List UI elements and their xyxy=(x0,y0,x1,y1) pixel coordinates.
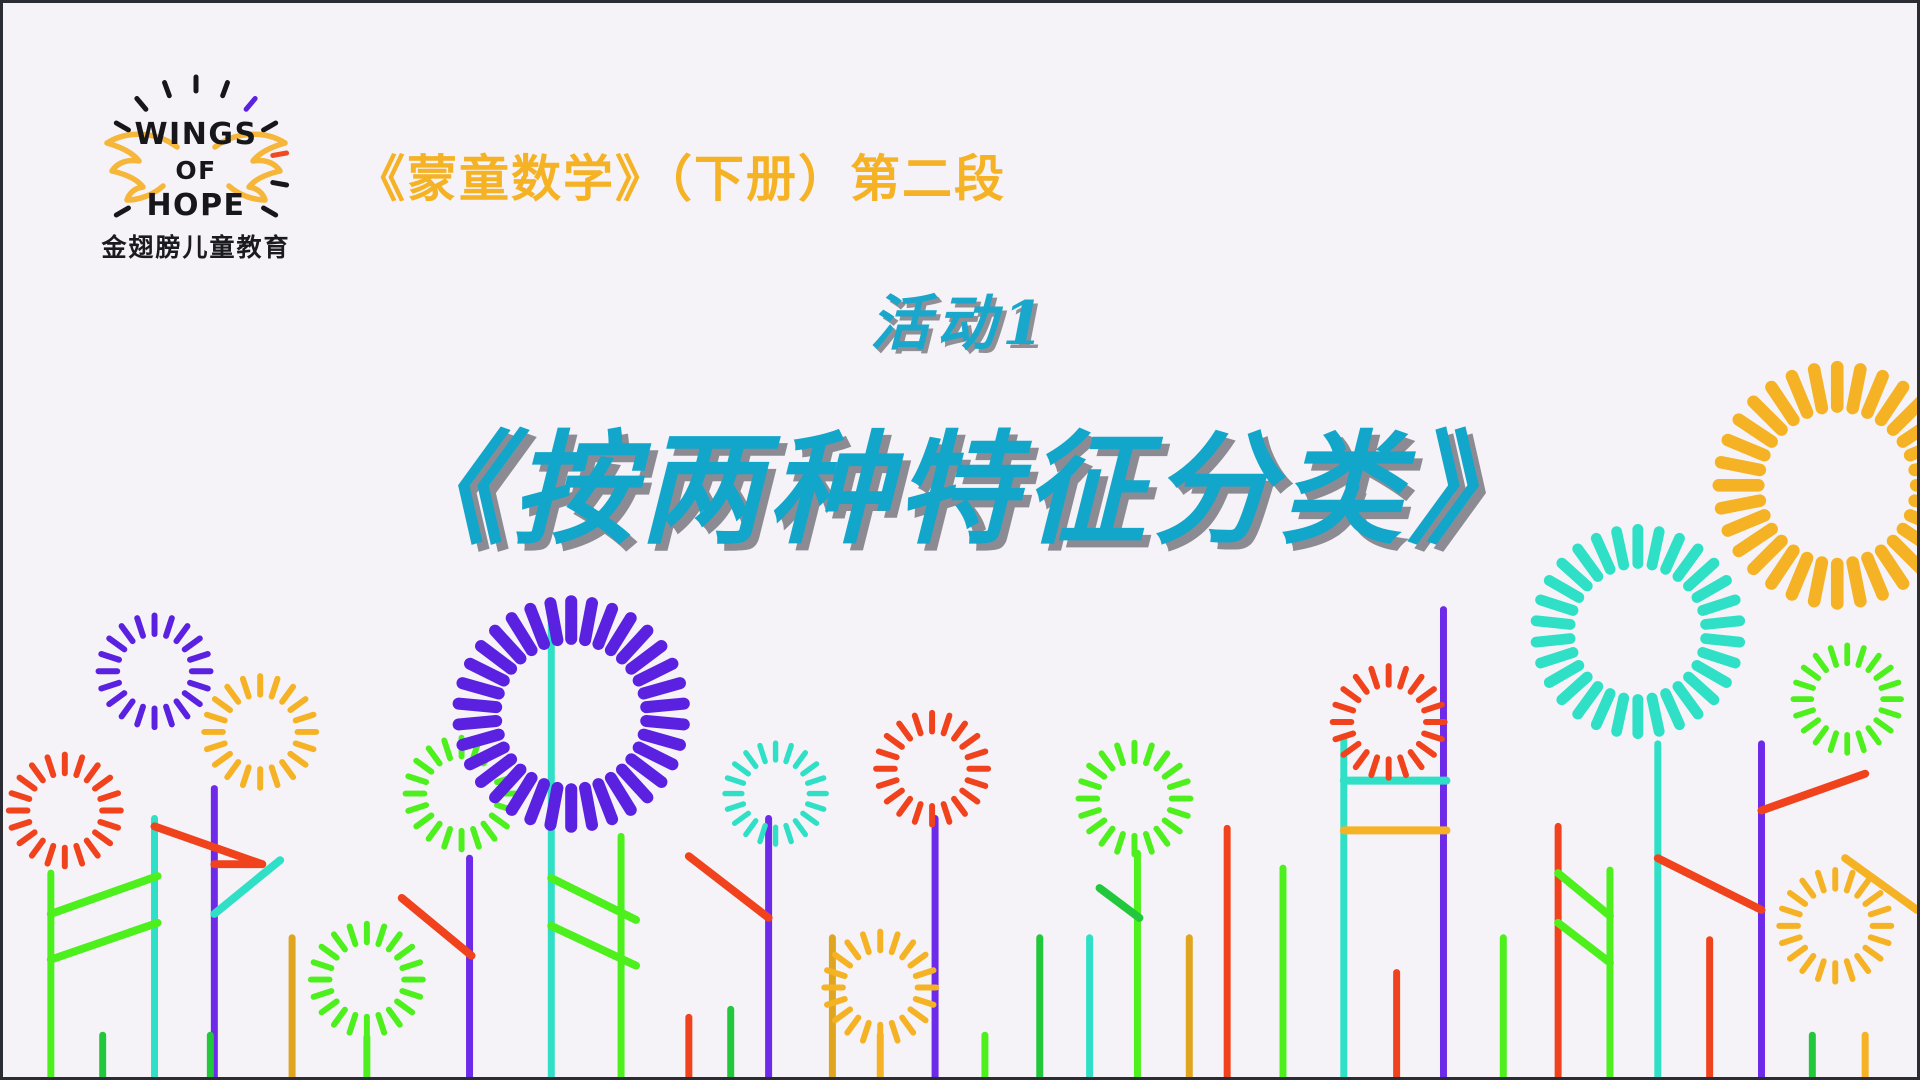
flower-petal xyxy=(389,934,400,949)
flower-petal xyxy=(944,804,950,822)
flower-petal xyxy=(611,618,631,650)
flower-petal xyxy=(1831,648,1837,665)
flower-petal xyxy=(1089,820,1104,831)
wings-of-hope-logo-icon: WINGS OF HOPE xyxy=(81,51,311,226)
flower-petal xyxy=(408,805,426,811)
flower-petal xyxy=(760,746,765,762)
brand-logo[interactable]: WINGS OF HOPE 金翅膀儿童教育 xyxy=(81,51,311,264)
flower-petal xyxy=(32,765,43,780)
flower-petal xyxy=(1804,668,1819,679)
flower-leaf xyxy=(1658,858,1762,910)
flower-petal xyxy=(1156,829,1167,844)
flower-petal xyxy=(1549,665,1579,682)
flower-petal xyxy=(12,822,30,828)
flower-petal xyxy=(20,832,35,843)
flower-petal xyxy=(1156,753,1167,768)
flower-petal xyxy=(1165,766,1180,777)
flower-petal xyxy=(1818,873,1824,891)
flower-petal xyxy=(899,799,910,814)
flower-petal xyxy=(166,618,172,636)
logo-spark xyxy=(273,153,287,155)
flower-petal xyxy=(827,970,845,976)
flower-petal xyxy=(835,1009,850,1020)
flower-petal xyxy=(550,603,557,640)
flower-petal xyxy=(95,832,110,843)
flower-petal xyxy=(1703,653,1735,664)
flower-petal xyxy=(512,618,532,650)
flower-petal xyxy=(497,805,515,811)
flower-petal xyxy=(915,804,921,822)
flower-petal xyxy=(470,748,504,765)
flower-petal xyxy=(462,683,498,693)
flower-petal xyxy=(1411,752,1422,767)
flower-petal xyxy=(1146,745,1152,763)
flower-petal xyxy=(350,1015,356,1033)
flower-petal xyxy=(492,815,507,826)
flower-petal xyxy=(512,778,532,810)
flower-petal xyxy=(207,743,225,749)
dandelion-flower xyxy=(406,738,518,850)
flower-petal xyxy=(915,716,921,734)
flower-petal xyxy=(795,753,805,767)
flower-petal xyxy=(1419,689,1434,700)
flower-leaf xyxy=(1558,923,1610,963)
flower-petal xyxy=(916,970,934,976)
flower-petal xyxy=(808,804,824,809)
flower-petal xyxy=(1536,639,1570,643)
flower-petal xyxy=(1865,893,1880,904)
flower-petal xyxy=(1335,733,1353,739)
flower-petal xyxy=(847,942,858,957)
logo-spark xyxy=(116,208,128,215)
flower-petal xyxy=(1343,689,1358,700)
flower-petal xyxy=(1424,705,1442,711)
flower-petal xyxy=(473,829,479,847)
flower-petal xyxy=(109,638,124,649)
dandelion-flower xyxy=(876,713,988,825)
flower-petal xyxy=(803,813,817,823)
logo-spark xyxy=(246,99,255,110)
flower-petal xyxy=(1335,705,1353,711)
flower-petal xyxy=(227,687,238,702)
flower-petal xyxy=(1549,580,1579,597)
activity-label: 活动1 xyxy=(3,275,1917,362)
flower-petal xyxy=(87,841,98,856)
flower-petal xyxy=(1865,948,1880,959)
flower-petal xyxy=(954,799,965,814)
flower-petal xyxy=(95,778,110,789)
flower-petal xyxy=(1666,694,1680,725)
flower-petal xyxy=(1876,720,1891,731)
flower-petal xyxy=(1400,669,1406,687)
flower-petal xyxy=(550,788,557,825)
dandelion-flower xyxy=(1793,645,1901,752)
flower-petal xyxy=(314,962,332,968)
flower-petal xyxy=(879,780,897,786)
flower-petal xyxy=(1165,820,1180,831)
flower-leaf xyxy=(1845,858,1917,910)
flower-petal xyxy=(76,846,82,864)
flower-petal xyxy=(1857,956,1868,971)
flower-petal xyxy=(459,721,497,724)
flower-petal xyxy=(1146,834,1152,852)
flower-petal xyxy=(585,603,592,640)
flower-petal xyxy=(631,759,661,782)
flower-petal xyxy=(1541,653,1573,664)
flower-petal xyxy=(622,770,647,798)
flower-leaf xyxy=(214,860,280,914)
flower-petal xyxy=(962,791,977,802)
logo-spark xyxy=(137,99,146,110)
flower-petal xyxy=(444,740,450,758)
flower-petal xyxy=(100,793,118,799)
flower-petal xyxy=(243,679,249,697)
flower-leaf xyxy=(1558,873,1610,916)
flower-petal xyxy=(20,778,35,789)
dandelion-flower xyxy=(824,932,936,1044)
flower-petal xyxy=(12,793,30,799)
flower-petal xyxy=(1706,621,1740,625)
logo-spark xyxy=(165,83,170,96)
flower-petal xyxy=(484,824,495,839)
flower-petal xyxy=(1652,698,1659,731)
flower-petal xyxy=(48,757,54,775)
flower-petal xyxy=(887,736,902,747)
flower-petal xyxy=(735,813,749,823)
page-title: 《按两种特征分类》 xyxy=(3,391,1917,568)
flower-petal xyxy=(282,687,293,702)
flower-petal xyxy=(1876,668,1891,679)
flower-petal xyxy=(190,683,208,689)
flower-petal xyxy=(314,991,332,997)
flower-petal xyxy=(910,1009,925,1020)
flower-petal xyxy=(290,699,305,710)
flower-petal xyxy=(847,1018,858,1033)
flower-petal xyxy=(646,704,684,707)
flower-petal xyxy=(1562,677,1587,700)
flower-petal xyxy=(968,751,986,757)
dandelion-flower xyxy=(311,924,423,1036)
dandelion-flower xyxy=(204,676,316,788)
flower-petal xyxy=(892,934,898,952)
logo-spark xyxy=(264,208,276,215)
flower-petal xyxy=(1170,781,1188,787)
logo-word-hope: HOPE xyxy=(146,188,245,223)
flower-petal xyxy=(296,715,314,721)
flower-petal xyxy=(429,824,440,839)
dandelion-flower xyxy=(1779,870,1891,982)
flower-petal xyxy=(954,724,965,739)
flower-petal xyxy=(100,822,118,828)
flower-petal xyxy=(416,815,431,826)
flower-petal xyxy=(1796,683,1813,689)
flower-leaf xyxy=(551,926,636,966)
flower-petal xyxy=(215,699,230,710)
flower-petal xyxy=(530,609,544,644)
flower-petal xyxy=(1117,745,1123,763)
flower-petal xyxy=(1697,665,1727,682)
flower-petal xyxy=(176,626,187,641)
flower-petal xyxy=(1371,669,1377,687)
flower-petal xyxy=(746,821,756,835)
flower-petal xyxy=(863,934,869,952)
flower-petal xyxy=(462,735,498,745)
flower-petal xyxy=(176,701,187,716)
flower-leaf xyxy=(551,878,636,920)
flower-petal xyxy=(282,762,293,777)
flower-petal xyxy=(1814,563,1822,602)
flower-petal xyxy=(644,683,680,693)
flower-petal xyxy=(378,926,384,944)
flower-petal xyxy=(1782,909,1800,915)
flower-petal xyxy=(879,751,897,757)
flower-petal xyxy=(899,724,910,739)
flower-petal xyxy=(1400,757,1406,775)
flower-petal xyxy=(1853,563,1861,602)
flower-petal xyxy=(746,753,756,767)
flower-leaf xyxy=(1100,888,1140,918)
flower-petal xyxy=(1089,766,1104,777)
flower-petal xyxy=(1816,728,1827,742)
flower-petal xyxy=(1411,677,1422,692)
flower-petal xyxy=(1578,687,1598,715)
flower-petal xyxy=(1881,710,1898,716)
flower-petal xyxy=(243,767,249,785)
flower-petal xyxy=(1790,893,1805,904)
flower-petal xyxy=(1782,937,1800,943)
flower-petal xyxy=(481,759,511,782)
flower-petal xyxy=(631,646,661,669)
flower-petal xyxy=(444,829,450,847)
dandelion-flower xyxy=(9,755,121,867)
flower-petal xyxy=(322,1001,337,1012)
flower-petal xyxy=(1816,656,1827,670)
flower-leaf xyxy=(402,898,472,956)
flower-petal xyxy=(101,683,119,689)
flower-petal xyxy=(122,701,133,716)
flower-petal xyxy=(334,934,345,949)
flower-petal xyxy=(1858,733,1864,750)
flower-petal xyxy=(185,693,200,704)
flower-petal xyxy=(408,776,426,782)
flower-petal xyxy=(416,761,431,772)
flower-petal xyxy=(1596,694,1610,725)
flower-petal xyxy=(272,767,278,785)
flower-petal xyxy=(1847,961,1853,979)
flower-petal xyxy=(484,748,495,763)
flower-petal xyxy=(87,765,98,780)
flower-petal xyxy=(1697,580,1727,597)
flower-leaf xyxy=(155,826,263,864)
flower-petal xyxy=(290,754,305,765)
flower-petal xyxy=(397,947,412,958)
flower-petal xyxy=(727,804,743,809)
dandelion-flower xyxy=(725,743,826,844)
flower-petal xyxy=(863,1023,869,1041)
flower-leaf xyxy=(51,876,158,914)
flower-petal xyxy=(137,618,143,636)
flower-petal xyxy=(735,764,749,774)
flower-petal xyxy=(429,748,440,763)
flower-petal xyxy=(1081,810,1099,816)
flower-petal xyxy=(1868,728,1879,742)
flower-petal xyxy=(495,770,520,798)
flower-petal xyxy=(639,748,673,765)
flower-petal xyxy=(350,926,356,944)
flower-petal xyxy=(207,715,225,721)
flower-petal xyxy=(611,778,631,810)
flower-petal xyxy=(916,999,934,1005)
logo-spark xyxy=(264,123,276,130)
flower-petal xyxy=(296,743,314,749)
flower-petal xyxy=(1356,677,1367,692)
flower-petal xyxy=(760,826,765,842)
flower-petal xyxy=(892,1023,898,1041)
flower-petal xyxy=(1802,956,1813,971)
flower-petal xyxy=(808,778,824,783)
dandelion-flower xyxy=(1078,743,1190,855)
flower-petal xyxy=(910,955,925,966)
flower-petal xyxy=(598,784,612,819)
flower-petal xyxy=(786,826,791,842)
flower-petal xyxy=(598,609,612,644)
flower-petal xyxy=(1678,687,1698,715)
flower-petal xyxy=(378,1015,384,1033)
flower-petal xyxy=(215,754,230,765)
flower-petal xyxy=(1857,881,1868,896)
flower-petal xyxy=(962,736,977,747)
brand-caption: 金翅膀儿童教育 xyxy=(81,228,311,264)
flower-petal xyxy=(727,778,743,783)
flower-petal xyxy=(1703,600,1735,611)
flower-petal xyxy=(786,746,791,762)
flower-petal xyxy=(1790,948,1805,959)
flower-petal xyxy=(227,762,238,777)
flower-petal xyxy=(137,707,143,725)
flower-petal xyxy=(459,704,497,707)
flower-petal xyxy=(1424,733,1442,739)
flower-petal xyxy=(272,679,278,697)
dandelion-flower xyxy=(459,601,684,827)
flower-petal xyxy=(1796,710,1813,716)
flower-petal xyxy=(1102,753,1113,768)
flower-petal xyxy=(1858,648,1864,665)
flower-petal xyxy=(1536,621,1570,625)
flower-petal xyxy=(585,788,592,825)
flower-petal xyxy=(1170,810,1188,816)
flower-petal xyxy=(1419,744,1434,755)
flower-petal xyxy=(1117,834,1123,852)
flower-petal xyxy=(1689,677,1714,700)
flower-petal xyxy=(1871,909,1889,915)
flower-leaf xyxy=(51,923,158,960)
flower-petal xyxy=(622,631,647,659)
flower-petal xyxy=(1102,829,1113,844)
flower-petal xyxy=(1356,752,1367,767)
flower-petal xyxy=(1831,733,1837,750)
flower-petal xyxy=(122,626,133,641)
flower-petal xyxy=(1706,639,1740,643)
flower-petal xyxy=(646,721,684,724)
logo-spark xyxy=(223,83,228,96)
flower-petal xyxy=(166,707,172,725)
dandelion-flower xyxy=(1333,666,1445,778)
flower-petal xyxy=(902,1018,913,1033)
flower-petal xyxy=(101,654,119,660)
flower-petal xyxy=(639,664,673,681)
flower-petal xyxy=(902,942,913,957)
flower-petal xyxy=(1868,656,1879,670)
flower-petal xyxy=(397,1001,412,1012)
flower-petal xyxy=(1343,744,1358,755)
flower-petal xyxy=(1804,720,1819,731)
flower-petal xyxy=(1371,757,1377,775)
flower-petal xyxy=(470,664,504,681)
flower-petal xyxy=(1881,683,1898,689)
flower-petal xyxy=(530,784,544,819)
flower-petal xyxy=(497,776,515,782)
flower-petal xyxy=(795,821,805,835)
flower-petal xyxy=(473,740,479,758)
flower-petal xyxy=(48,846,54,864)
logo-word-wings: WINGS xyxy=(134,117,257,152)
slide-canvas: WINGS OF HOPE 金翅膀儿童教育 《蒙童数学》（下册）第二段 活动1 … xyxy=(0,0,1920,1080)
logo-spark xyxy=(273,183,287,185)
flower-leaf xyxy=(1761,774,1865,811)
flower-petal xyxy=(968,780,986,786)
flower-petal xyxy=(76,757,82,775)
flower-petal xyxy=(644,735,680,745)
flower-petal xyxy=(1818,961,1824,979)
flower-petal xyxy=(827,999,845,1005)
flower-petal xyxy=(492,761,507,772)
flower-petal xyxy=(481,646,511,669)
flower-petal xyxy=(803,764,817,774)
logo-spark xyxy=(116,123,128,130)
flower-petal xyxy=(32,841,43,856)
flower-petal xyxy=(1871,937,1889,943)
flower-petal xyxy=(190,654,208,660)
dandelion-flower xyxy=(99,615,211,727)
flower-petal xyxy=(1847,873,1853,891)
flower-petal xyxy=(185,638,200,649)
flower-petal xyxy=(402,991,420,997)
flower-petal xyxy=(389,1010,400,1025)
course-subtitle: 《蒙童数学》（下册）第二段 xyxy=(355,139,1006,211)
flower-petal xyxy=(495,631,520,659)
flower-petal xyxy=(1541,600,1573,611)
flower-petal xyxy=(835,955,850,966)
flower-petal xyxy=(109,693,124,704)
flower-petal xyxy=(402,962,420,968)
flower-petal xyxy=(944,716,950,734)
flower-leaf xyxy=(689,856,769,918)
flower-petal xyxy=(1081,781,1099,787)
logo-word-of: OF xyxy=(175,156,216,185)
flower-petal xyxy=(1617,698,1624,731)
flower-petal xyxy=(1802,881,1813,896)
flower-petal xyxy=(322,947,337,958)
flower-petal xyxy=(334,1010,345,1025)
flower-petal xyxy=(887,791,902,802)
